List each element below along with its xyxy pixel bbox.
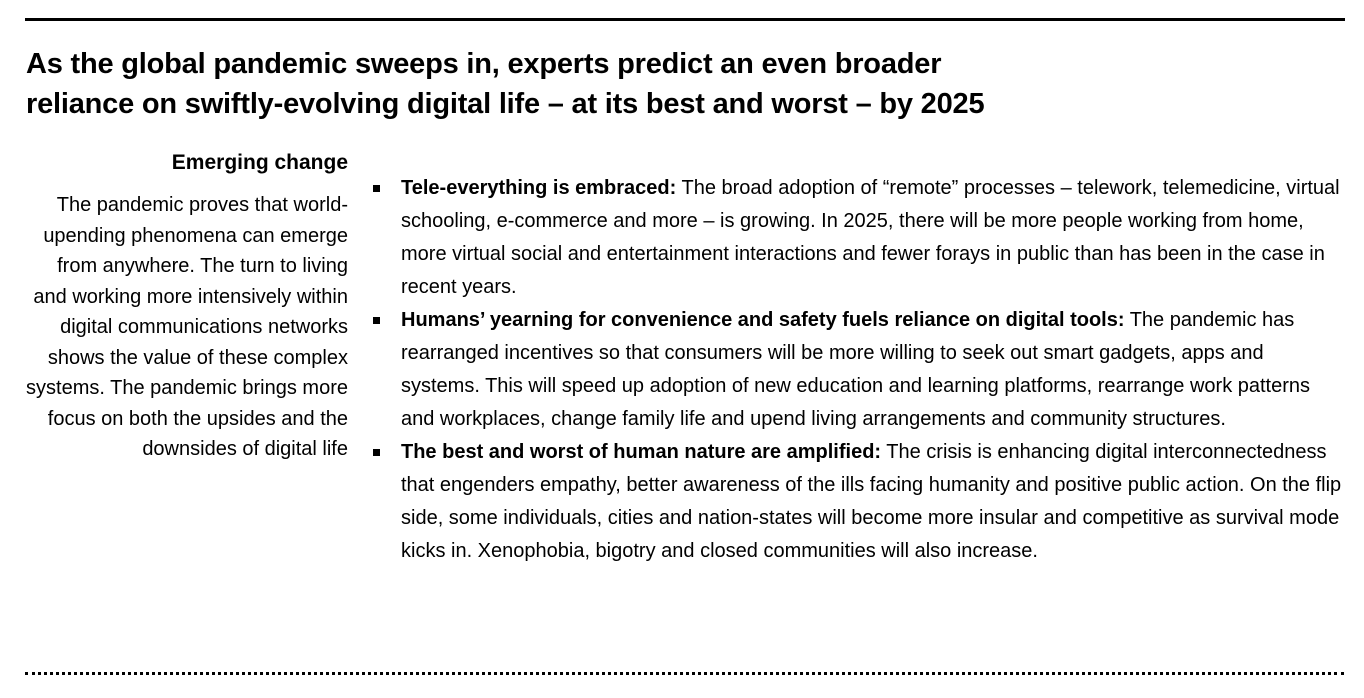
bottom-dotted-rule	[25, 672, 1344, 675]
emerging-change-column: Emerging change The pandemic proves that…	[26, 150, 348, 465]
emerging-change-text: The pandemic proves that world-upending …	[26, 190, 348, 465]
bullet-list: Tele-everything is embraced: The broad a…	[370, 172, 1342, 568]
list-item: The best and worst of human nature are a…	[370, 436, 1342, 568]
square-bullet-icon	[373, 317, 380, 324]
bullet-lead: Humans’ yearning for convenience and saf…	[401, 309, 1125, 331]
emerging-change-heading: Emerging change	[26, 150, 348, 176]
bullet-column: Tele-everything is embraced: The broad a…	[370, 172, 1342, 568]
list-item: Tele-everything is embraced: The broad a…	[370, 172, 1342, 304]
square-bullet-icon	[373, 449, 380, 456]
top-horizontal-rule	[25, 18, 1345, 21]
list-item: Humans’ yearning for convenience and saf…	[370, 304, 1342, 436]
bullet-lead: The best and worst of human nature are a…	[401, 441, 881, 463]
page-title-line-2: reliance on swiftly-evolving digital lif…	[26, 84, 1326, 124]
page-title: As the global pandemic sweeps in, expert…	[26, 44, 1326, 124]
page-title-line-1: As the global pandemic sweeps in, expert…	[26, 44, 1326, 84]
square-bullet-icon	[373, 185, 380, 192]
bullet-lead: Tele-everything is embraced:	[401, 177, 676, 199]
